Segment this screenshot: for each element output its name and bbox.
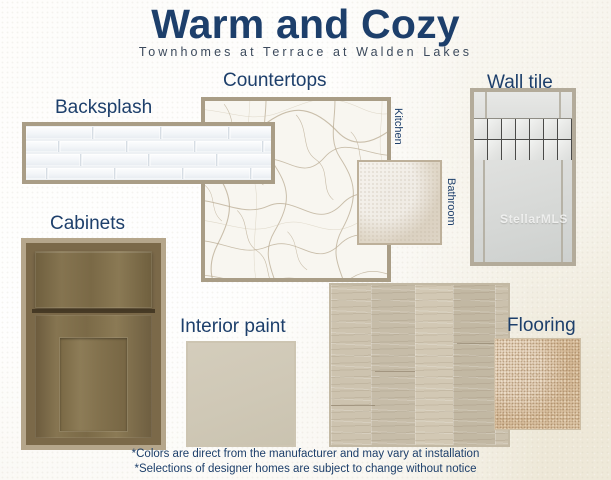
plank-seam bbox=[375, 371, 415, 372]
mosaic-tile bbox=[544, 119, 558, 140]
subway-tile bbox=[116, 168, 183, 180]
wall-tile-mosaic-band bbox=[474, 118, 572, 162]
swatch-countertop-bathroom bbox=[357, 160, 442, 245]
page-subtitle: Townhomes at Terrace at Walden Lakes bbox=[0, 44, 611, 60]
floor-plank bbox=[331, 283, 372, 447]
subway-tile bbox=[48, 168, 115, 180]
subway-tile bbox=[60, 141, 127, 153]
page-title: Warm and Cozy bbox=[0, 2, 611, 46]
subway-tile-row bbox=[22, 153, 275, 167]
swatch-flooring-carpet bbox=[494, 338, 581, 430]
subway-tile bbox=[150, 154, 217, 166]
label-wall-tile: Wall tile bbox=[487, 72, 553, 94]
wall-tile-trim-left bbox=[483, 160, 485, 262]
subway-tile bbox=[82, 154, 149, 166]
label-cabinets: Cabinets bbox=[50, 213, 125, 235]
label-backsplash: Backsplash bbox=[55, 97, 152, 119]
wall-tile-top-field bbox=[474, 92, 572, 118]
mosaic-tile bbox=[516, 119, 530, 140]
wall-tile-field bbox=[474, 160, 572, 262]
mosaic-tile bbox=[558, 140, 572, 161]
mosaic-tile bbox=[516, 140, 530, 161]
subway-tile bbox=[218, 154, 275, 166]
cabinet-drawer-front bbox=[35, 251, 152, 308]
subway-tile bbox=[230, 127, 275, 139]
subway-tile-row bbox=[22, 167, 275, 181]
mosaic-tile bbox=[474, 140, 488, 161]
footer-line-2: *Selections of designer homes are subjec… bbox=[0, 462, 611, 477]
mosaic-tile bbox=[488, 119, 502, 140]
mosaic-tile bbox=[530, 119, 544, 140]
floor-plank bbox=[453, 283, 496, 447]
cabinet-door bbox=[35, 315, 152, 438]
subway-tile bbox=[162, 127, 229, 139]
swatch-wall-tile: StellarMLS bbox=[470, 88, 576, 266]
plank-seam bbox=[457, 343, 495, 344]
subway-tile bbox=[26, 127, 93, 139]
cabinet-reveal-gap bbox=[32, 309, 155, 313]
mosaic-tile bbox=[502, 119, 516, 140]
subway-tile-row bbox=[22, 126, 275, 140]
wall-tile-trim-right bbox=[561, 160, 563, 262]
mosaic-tile bbox=[502, 140, 516, 161]
cabinet-door-panel bbox=[60, 338, 127, 431]
floor-plank bbox=[371, 283, 416, 447]
swatch-cabinets bbox=[21, 238, 166, 450]
wall-tile-trim-right-top bbox=[559, 92, 561, 118]
subway-tile-row bbox=[22, 140, 275, 154]
floor-plank bbox=[415, 283, 454, 447]
subway-tile bbox=[94, 127, 161, 139]
swatch-backsplash bbox=[22, 122, 275, 184]
cabinet-body bbox=[28, 245, 159, 443]
subway-tile bbox=[264, 141, 275, 153]
mosaic-tile bbox=[474, 119, 488, 140]
footer-disclaimer: *Colors are direct from the manufacturer… bbox=[0, 447, 611, 476]
subway-tile bbox=[196, 141, 263, 153]
mosaic-tile bbox=[530, 140, 544, 161]
label-kitchen: Kitchen bbox=[392, 108, 404, 145]
plank-seam bbox=[331, 405, 375, 406]
swatch-flooring-plank bbox=[329, 283, 510, 447]
subway-tile bbox=[22, 168, 47, 180]
mosaic-tile bbox=[544, 140, 558, 161]
mosaic-tile bbox=[558, 119, 572, 140]
subway-tile bbox=[128, 141, 195, 153]
label-countertops: Countertops bbox=[223, 70, 327, 92]
subway-tile bbox=[252, 168, 275, 180]
design-board: Warm and Cozy Townhomes at Terrace at Wa… bbox=[0, 0, 611, 480]
label-flooring: Flooring bbox=[507, 315, 576, 337]
subway-tile bbox=[22, 141, 59, 153]
subway-tile bbox=[184, 168, 251, 180]
label-interior-paint: Interior paint bbox=[180, 316, 286, 338]
subway-tile bbox=[22, 154, 81, 166]
label-bathroom: Bathroom bbox=[445, 178, 457, 226]
swatch-interior-paint bbox=[186, 341, 296, 447]
footer-line-1: *Colors are direct from the manufacturer… bbox=[0, 447, 611, 462]
mosaic-tile bbox=[488, 140, 502, 161]
subway-tile-pattern bbox=[26, 126, 271, 180]
